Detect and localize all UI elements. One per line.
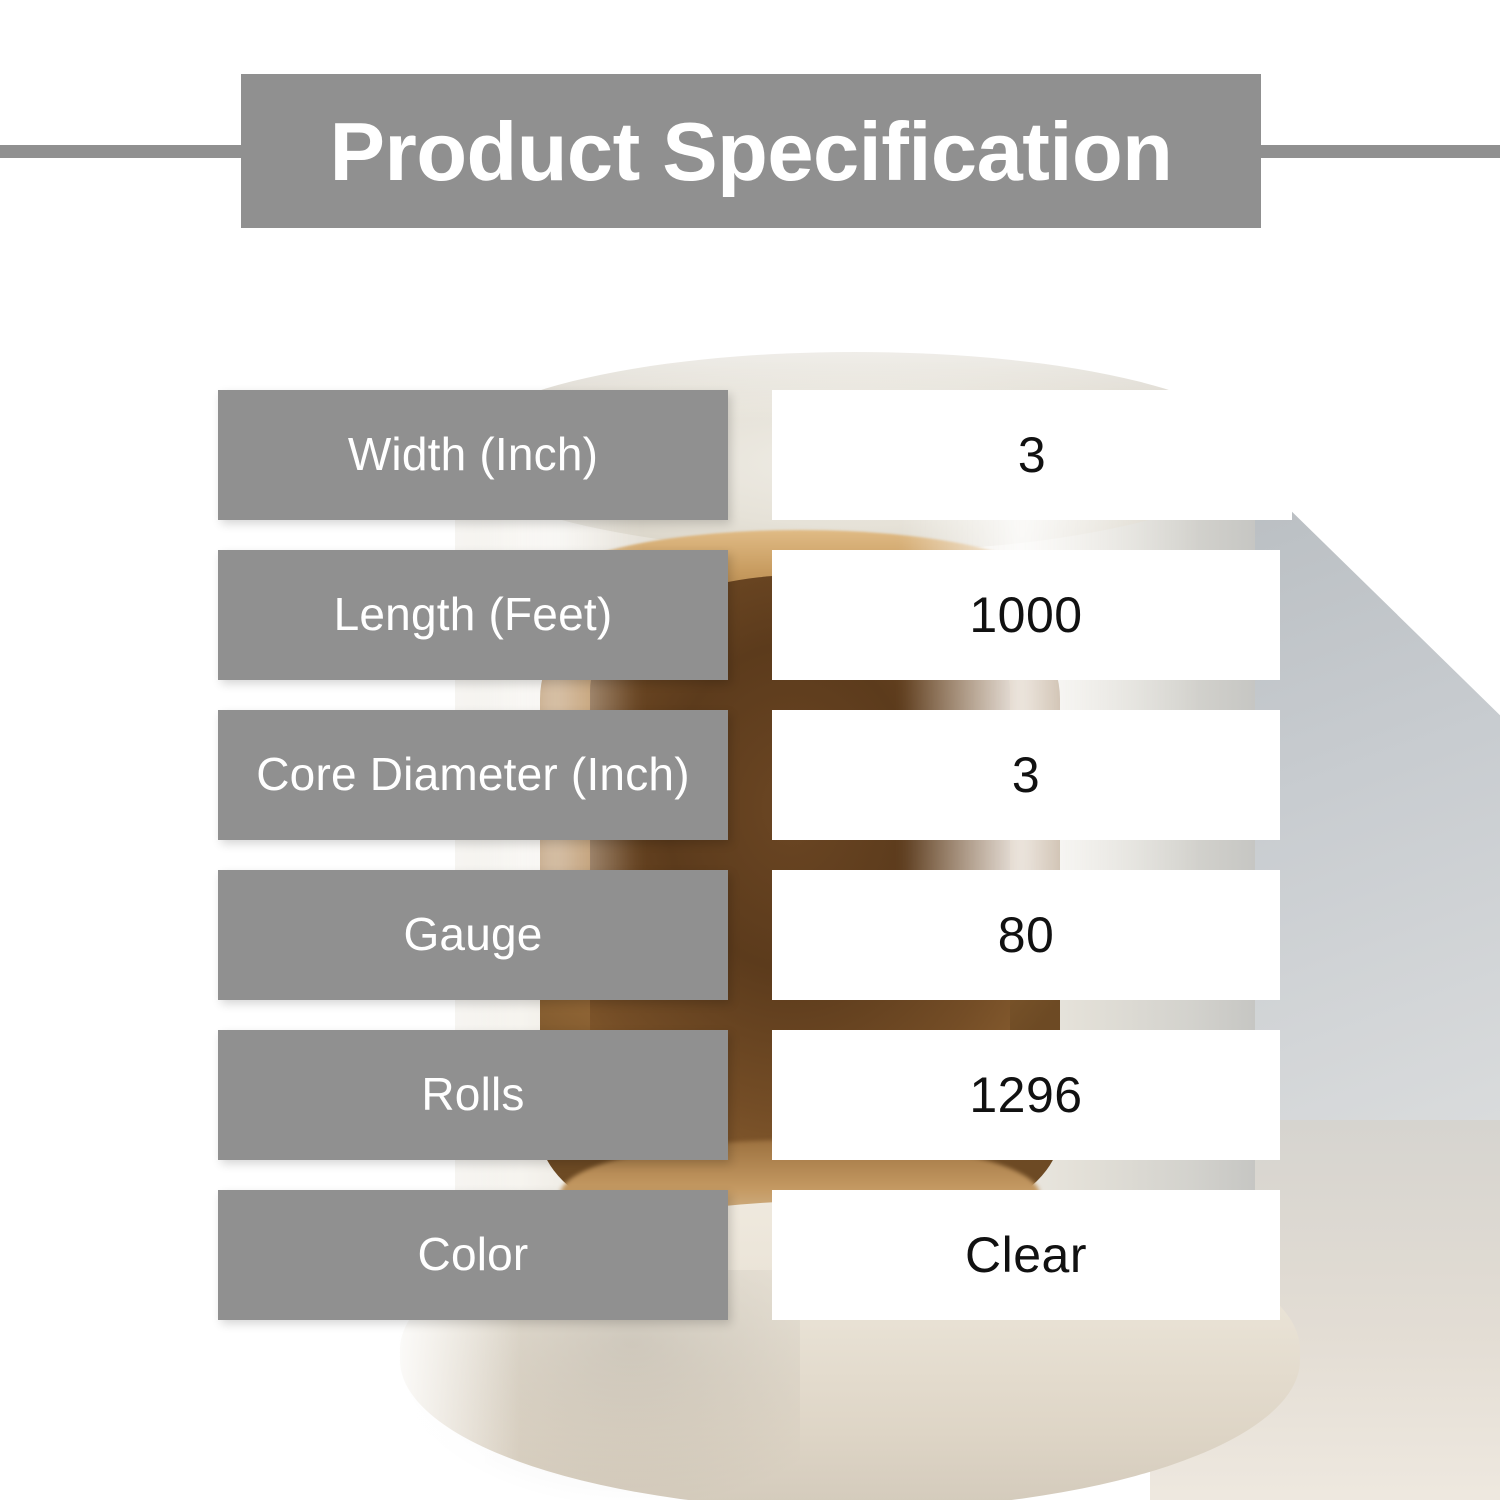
table-row: Width (Inch) 3 (0, 390, 1500, 520)
spec-value-text: 3 (1018, 429, 1046, 482)
specification-table: Width (Inch) 3 Length (Feet) 1000 Core D… (0, 0, 1500, 1500)
spec-label-text: Rolls (421, 1070, 524, 1119)
table-row: Color Clear (0, 1190, 1500, 1320)
spec-label-color: Color (218, 1190, 728, 1320)
table-row: Core Diameter (Inch) 3 (0, 710, 1500, 840)
spec-value-color: Clear (772, 1190, 1280, 1320)
table-row: Gauge 80 (0, 870, 1500, 1000)
spec-label-length: Length (Feet) (218, 550, 728, 680)
spec-label-gauge: Gauge (218, 870, 728, 1000)
spec-label-core-diameter: Core Diameter (Inch) (218, 710, 728, 840)
spec-value-length: 1000 (772, 550, 1280, 680)
spec-label-width: Width (Inch) (218, 390, 728, 520)
spec-label-text: Color (418, 1230, 529, 1279)
spec-label-text: Gauge (403, 910, 542, 959)
spec-value-text: 80 (998, 909, 1055, 962)
spec-label-text: Core Diameter (Inch) (256, 750, 689, 799)
spec-label-text: Width (Inch) (348, 430, 598, 479)
spec-value-gauge: 80 (772, 870, 1280, 1000)
spec-value-width: 3 (772, 390, 1292, 520)
table-row: Length (Feet) 1000 (0, 550, 1500, 680)
spec-label-rolls: Rolls (218, 1030, 728, 1160)
spec-value-core-diameter: 3 (772, 710, 1280, 840)
spec-value-text: Clear (965, 1229, 1087, 1282)
spec-value-rolls: 1296 (772, 1030, 1280, 1160)
table-row: Rolls 1296 (0, 1030, 1500, 1160)
spec-value-text: 1000 (969, 589, 1082, 642)
spec-value-text: 3 (1012, 749, 1040, 802)
spec-value-text: 1296 (969, 1069, 1082, 1122)
product-specification-page: Product Specification Width (Inch) 3 Len… (0, 0, 1500, 1500)
spec-label-text: Length (Feet) (334, 590, 613, 639)
